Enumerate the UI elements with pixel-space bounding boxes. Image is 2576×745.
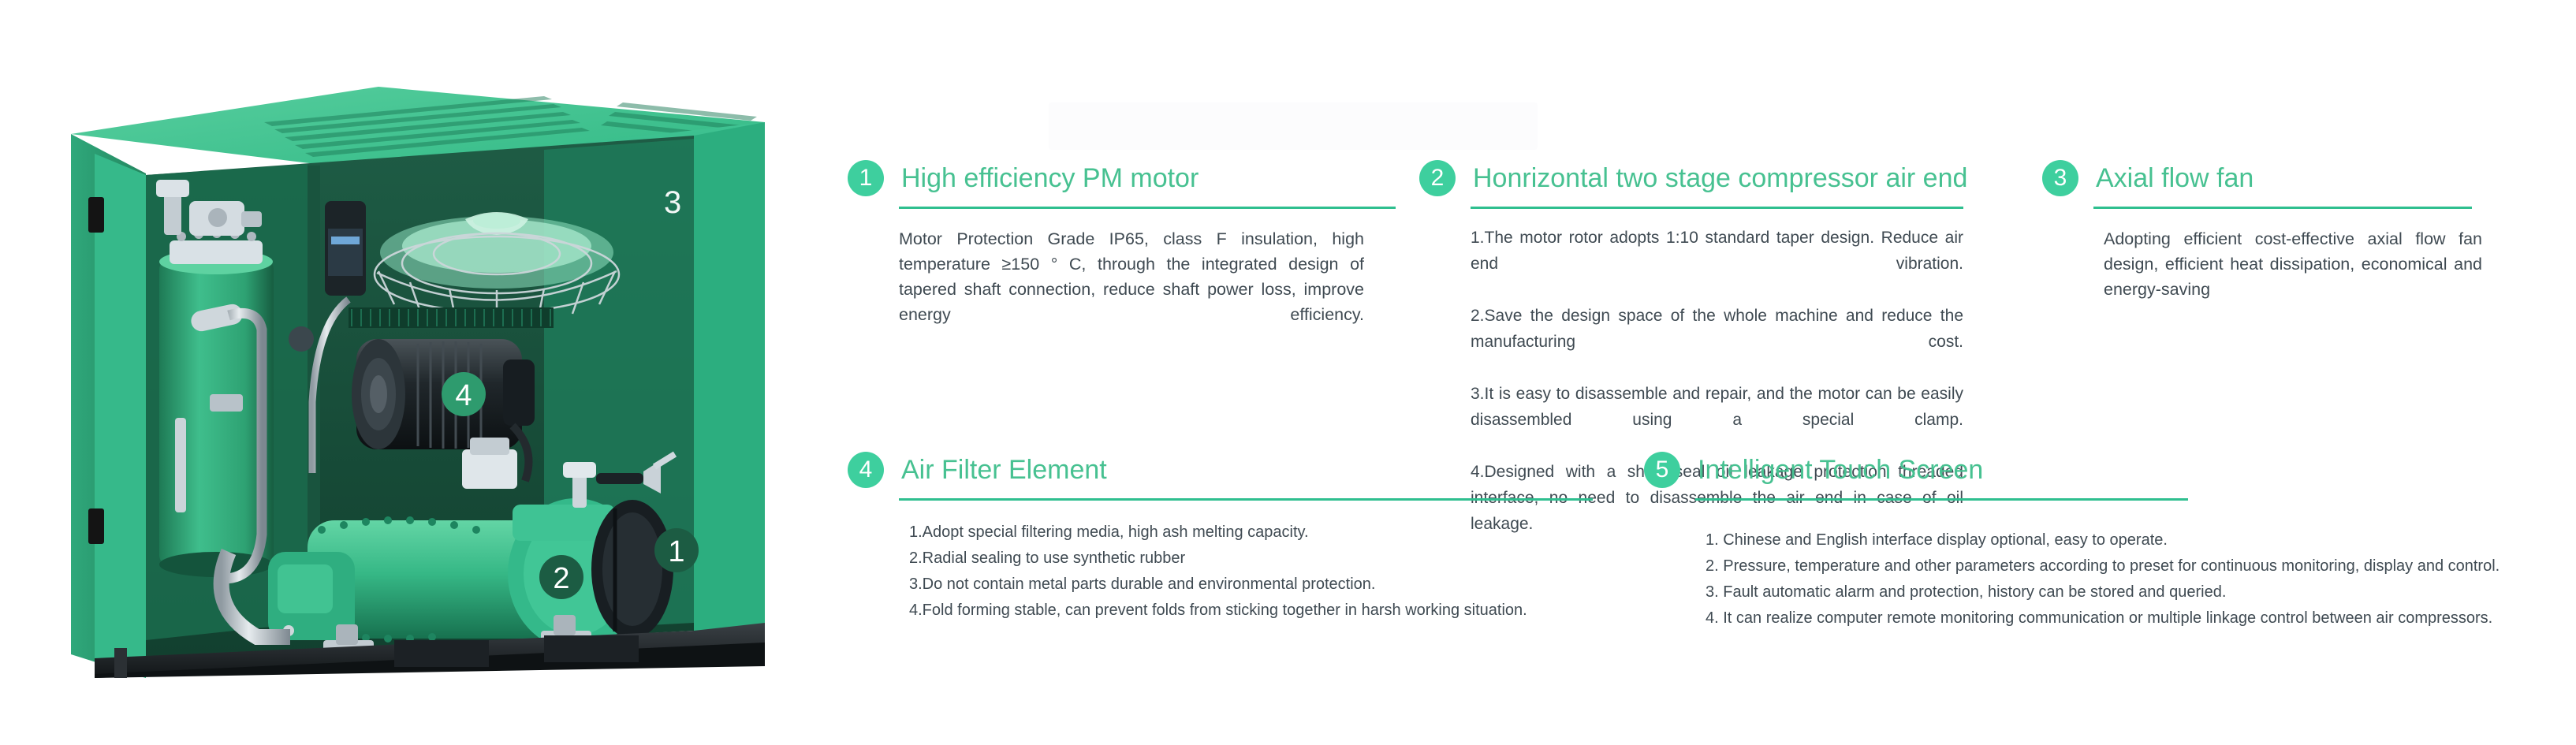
list-item: 1.Adopt special filtering media, high as… [909,520,1619,546]
list-item: 2.Save the design space of the whole mac… [1471,303,1963,381]
feature-4-list: 1.Adopt special filtering media, high as… [909,520,1619,624]
feature-2-divider [1471,207,1963,209]
background-watermark [1049,102,1538,150]
feature-5-title: Intelligent Touch Screen [1698,455,1983,486]
feature-1-header: 1 High efficiency PM motor [848,158,1415,199]
feature-3-badge: 3 [2042,160,2078,196]
sight-glass [175,418,186,512]
feature-block-3: 3 Axial flow fan Adopting efficient cost… [2042,158,2563,327]
list-item: 2. Pressure, temperature and other param… [1706,553,2573,579]
feature-block-5: 5 Intelligent Touch Screen 1. Chinese an… [1644,449,2559,631]
feature-1-divider [899,207,1396,209]
door-hinge-bottom [88,508,104,544]
junction-cover [470,438,509,455]
feature-4-divider [899,498,1593,501]
feature-4-badge: 4 [848,452,884,488]
list-item: 4. It can realize computer remote monito… [1706,605,2573,631]
motor-junction-box [462,449,517,489]
callout-2: 2 [539,555,583,599]
list-item: 3. Fault automatic alarm and protection,… [1706,579,2573,605]
callout-4: 4 [442,372,486,416]
door-hinge-top [88,197,104,233]
air-end-dark-cover [591,500,673,639]
feature-5-list: 1. Chinese and English interface display… [1706,527,2573,631]
feature-3-paragraph: Adopting efficient cost-effective axial … [2104,226,2482,327]
feature-1-paragraph: Motor Protection Grade IP65, class F ins… [899,226,1364,352]
list-item: 2.Radial sealing to use synthetic rubber [909,546,1619,572]
pipe-clamp [210,394,243,412]
skid-leg-left [114,648,127,678]
feature-4-header: 4 Air Filter Element [848,449,1636,490]
list-item: 4.Fold forming stable, can prevent folds… [909,598,1619,624]
feature-3-divider [2093,207,2472,209]
feature-page: Taitian [0,0,2576,745]
feature-5-header: 5 Intelligent Touch Screen [1644,449,2559,490]
skid-crossmember [394,640,489,667]
skid-crossmember-right [544,635,639,662]
list-item: 1. Chinese and English interface display… [1706,527,2573,553]
feature-block-1: 1 High efficiency PM motor Motor Protect… [848,158,1415,352]
feature-5-divider [1695,498,2188,501]
svg-text:1: 1 [668,535,684,568]
feature-3-header: 3 Axial flow fan [2042,158,2563,199]
feature-1-title: High efficiency PM motor [901,163,1199,194]
list-item: 1.The motor rotor adopts 1:10 standard t… [1471,225,1963,303]
feature-1-badge: 1 [848,160,884,196]
cabinet-right-side [694,122,765,640]
feature-4-title: Air Filter Element [901,455,1107,486]
feature-2-header: 2 Honrizontal two stage compressor air e… [1419,158,2058,199]
callout-1: 1 [654,528,699,572]
list-item: 3.It is easy to disassemble and repair, … [1471,381,1963,459]
feature-3-title: Axial flow fan [2096,163,2254,194]
oil-filter [325,201,366,296]
feature-2-badge: 2 [1419,160,1456,196]
list-item: 3.Do not contain metal parts durable and… [909,572,1619,598]
callout-3: 3 [664,185,681,220]
svg-text:4: 4 [455,379,472,412]
product-image: Taitian [71,79,765,678]
feature-5-badge: 5 [1644,452,1680,488]
feature-2-title: Honrizontal two stage compressor air end [1473,163,1967,194]
compressor-illustration: Taitian [71,79,765,678]
svg-text:2: 2 [553,562,569,595]
feature-block-4: 4 Air Filter Element 1.Adopt special fil… [848,449,1636,624]
gauge [289,326,314,352]
